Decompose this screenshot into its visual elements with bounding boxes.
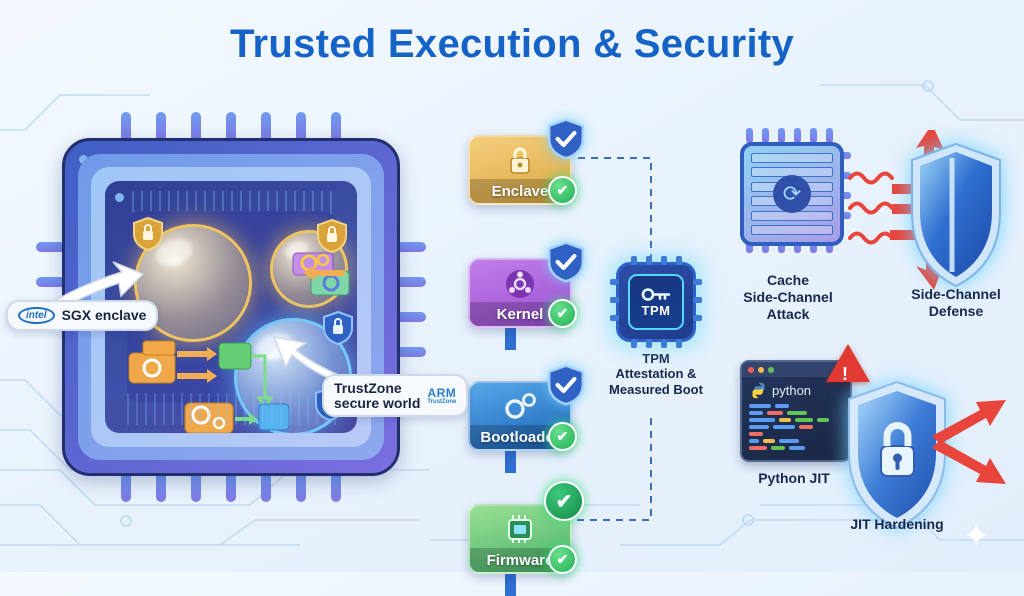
verified-check-icon: ✔ [548, 299, 577, 328]
jit-deflection-arrows [930, 362, 1024, 530]
arm-trustzone-logo-icon: ARM TrustZone [427, 387, 456, 405]
infographic-canvas: Trusted Execution & Security [0, 0, 1024, 572]
python-jit-caption: Python JIT [728, 470, 860, 487]
cpu-pin [331, 472, 341, 502]
trustzone-label: TrustZonesecure world [334, 381, 420, 410]
page-title: Trusted Execution & Security [0, 22, 1024, 67]
sync-icon: ⟳ [773, 175, 811, 213]
shield-icon [908, 140, 1004, 290]
warning-glyph: ! [842, 364, 848, 385]
lock-icon [503, 144, 537, 178]
python-icon [750, 382, 767, 399]
ubuntu-icon [503, 267, 537, 301]
sgx-enclave-callout[interactable]: intel SGX enclave [6, 300, 158, 331]
trustzone-callout[interactable]: TrustZonesecure world ARM TrustZone [322, 374, 468, 417]
verified-check-icon: ✔ [548, 176, 577, 205]
cpu-pin [261, 472, 271, 502]
cache-chip-sync-icon: ⟳ [740, 142, 844, 246]
warning-triangle-icon [826, 344, 870, 382]
verified-check-icon: ✔ [548, 422, 577, 451]
jit-hardening-caption: JIT Hardening [826, 516, 968, 533]
intel-logo-icon: intel [18, 307, 55, 324]
python-logo-label: python [772, 383, 811, 398]
cpu-pin [226, 472, 236, 502]
tpm-chip-icon: TPM [616, 262, 696, 342]
key-icon [641, 287, 671, 302]
cpu-pin [121, 472, 131, 502]
cpu-pin [191, 472, 201, 502]
cpu-pin [296, 472, 306, 502]
verified-check-icon: ✔ [544, 481, 584, 521]
side-channel-defense-caption: Side-Channel Defense [888, 286, 1024, 320]
shield-icon [548, 364, 584, 406]
code-lines [742, 402, 850, 452]
tpm-chip-label: TPM [642, 303, 671, 318]
chip-icon [502, 513, 538, 545]
die-dot-icon [115, 193, 124, 202]
tpm-caption: TPM Attestation & Measured Boot [600, 351, 712, 397]
shield-icon [548, 241, 584, 283]
cache-attack-caption: Cache Side-Channel Attack [726, 272, 850, 322]
measured-boot-chain: Enclave ✔ Kernel ✔ [460, 110, 580, 530]
shield-icon [548, 118, 584, 160]
tpm-chip-face: TPM [628, 274, 684, 330]
tpm-module[interactable]: TPM TPM Attestation & Measured Boot [600, 262, 712, 392]
gears-icon [500, 391, 540, 423]
sgx-enclave-label: SGX enclave [62, 308, 147, 323]
cpu-pin [156, 472, 166, 502]
verified-check-icon: ✔ [548, 545, 577, 574]
